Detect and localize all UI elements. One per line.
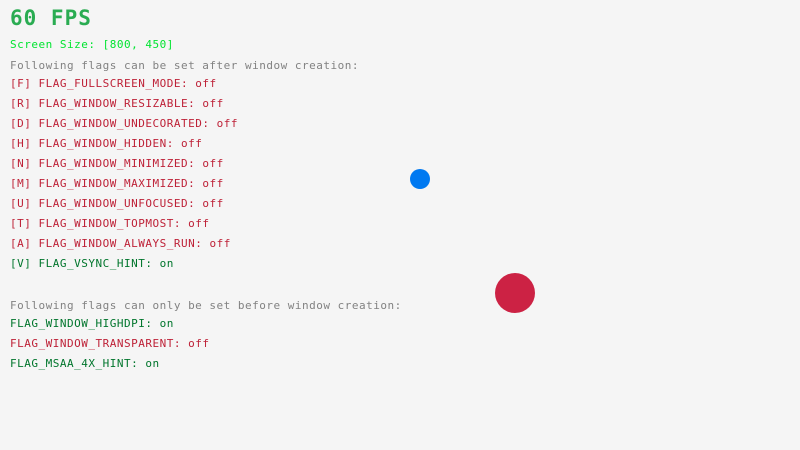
flag-state-value: off (202, 97, 223, 110)
flag-row[interactable]: [A] FLAG_WINDOW_ALWAYS_RUN: off (10, 238, 231, 249)
flag-shortcut-key: [T] (10, 217, 31, 230)
section-header-before-creation: Following flags can only be set before w… (10, 300, 402, 311)
blue-ball-icon (410, 169, 430, 189)
flag-shortcut-key: [U] (10, 197, 31, 210)
flag-state-value: off (195, 77, 216, 90)
flag-state-value: off (202, 157, 223, 170)
flag-shortcut-key: [N] (10, 157, 31, 170)
flag-state-value: off (188, 217, 209, 230)
red-ball-icon (495, 273, 535, 313)
flag-name-label: FLAG_MSAA_4X_HINT: (10, 357, 138, 370)
flag-row[interactable]: [F] FLAG_FULLSCREEN_MODE: off (10, 78, 217, 89)
flag-state-value: off (202, 197, 223, 210)
fps-counter: 60 FPS (10, 8, 92, 29)
flag-row[interactable]: FLAG_WINDOW_TRANSPARENT: off (10, 338, 209, 349)
flag-row[interactable]: [N] FLAG_WINDOW_MINIMIZED: off (10, 158, 224, 169)
flag-shortcut-key: [V] (10, 257, 31, 270)
flag-name-label: FLAG_WINDOW_TRANSPARENT: (10, 337, 181, 350)
flag-name-label: FLAG_VSYNC_HINT: (39, 257, 153, 270)
flag-shortcut-key: [A] (10, 237, 31, 250)
flag-state-value: off (188, 337, 209, 350)
flag-name-label: FLAG_WINDOW_TOPMOST: (39, 217, 181, 230)
flag-row[interactable]: [T] FLAG_WINDOW_TOPMOST: off (10, 218, 209, 229)
flag-shortcut-key: [R] (10, 97, 31, 110)
flag-state-value: off (209, 237, 230, 250)
flag-row[interactable]: [H] FLAG_WINDOW_HIDDEN: off (10, 138, 202, 149)
flag-row[interactable]: [R] FLAG_WINDOW_RESIZABLE: off (10, 98, 224, 109)
flag-name-label: FLAG_WINDOW_MINIMIZED: (39, 157, 196, 170)
flag-row[interactable]: [M] FLAG_WINDOW_MAXIMIZED: off (10, 178, 224, 189)
flag-row[interactable]: FLAG_MSAA_4X_HINT: on (10, 358, 160, 369)
flag-state-value: on (145, 357, 159, 370)
flag-state-value: off (217, 117, 238, 130)
flag-row[interactable]: [U] FLAG_WINDOW_UNFOCUSED: off (10, 198, 224, 209)
flag-row[interactable]: FLAG_WINDOW_HIGHDPI: on (10, 318, 174, 329)
screen-size-label: Screen Size: [800, 450] (10, 39, 174, 50)
flag-shortcut-key: [F] (10, 77, 31, 90)
flag-name-label: FLAG_WINDOW_HIGHDPI: (10, 317, 152, 330)
flag-shortcut-key: [H] (10, 137, 31, 150)
flag-name-label: FLAG_WINDOW_RESIZABLE: (39, 97, 196, 110)
flag-name-label: FLAG_WINDOW_HIDDEN: (39, 137, 174, 150)
flag-state-value: off (181, 137, 202, 150)
flag-name-label: FLAG_WINDOW_MAXIMIZED: (39, 177, 196, 190)
flag-name-label: FLAG_WINDOW_UNFOCUSED: (39, 197, 196, 210)
flag-name-label: FLAG_WINDOW_ALWAYS_RUN: (39, 237, 203, 250)
raylib-window-canvas[interactable]: 60 FPS Screen Size: [800, 450] Following… (0, 0, 800, 450)
flag-row[interactable]: [V] FLAG_VSYNC_HINT: on (10, 258, 174, 269)
flag-shortcut-key: [D] (10, 117, 31, 130)
flag-state-value: off (202, 177, 223, 190)
flag-shortcut-key: [M] (10, 177, 31, 190)
flag-name-label: FLAG_FULLSCREEN_MODE: (39, 77, 189, 90)
section-header-after-creation: Following flags can be set after window … (10, 60, 359, 71)
flag-name-label: FLAG_WINDOW_UNDECORATED: (39, 117, 210, 130)
flag-row[interactable]: [D] FLAG_WINDOW_UNDECORATED: off (10, 118, 238, 129)
flag-state-value: on (160, 317, 174, 330)
flag-state-value: on (160, 257, 174, 270)
